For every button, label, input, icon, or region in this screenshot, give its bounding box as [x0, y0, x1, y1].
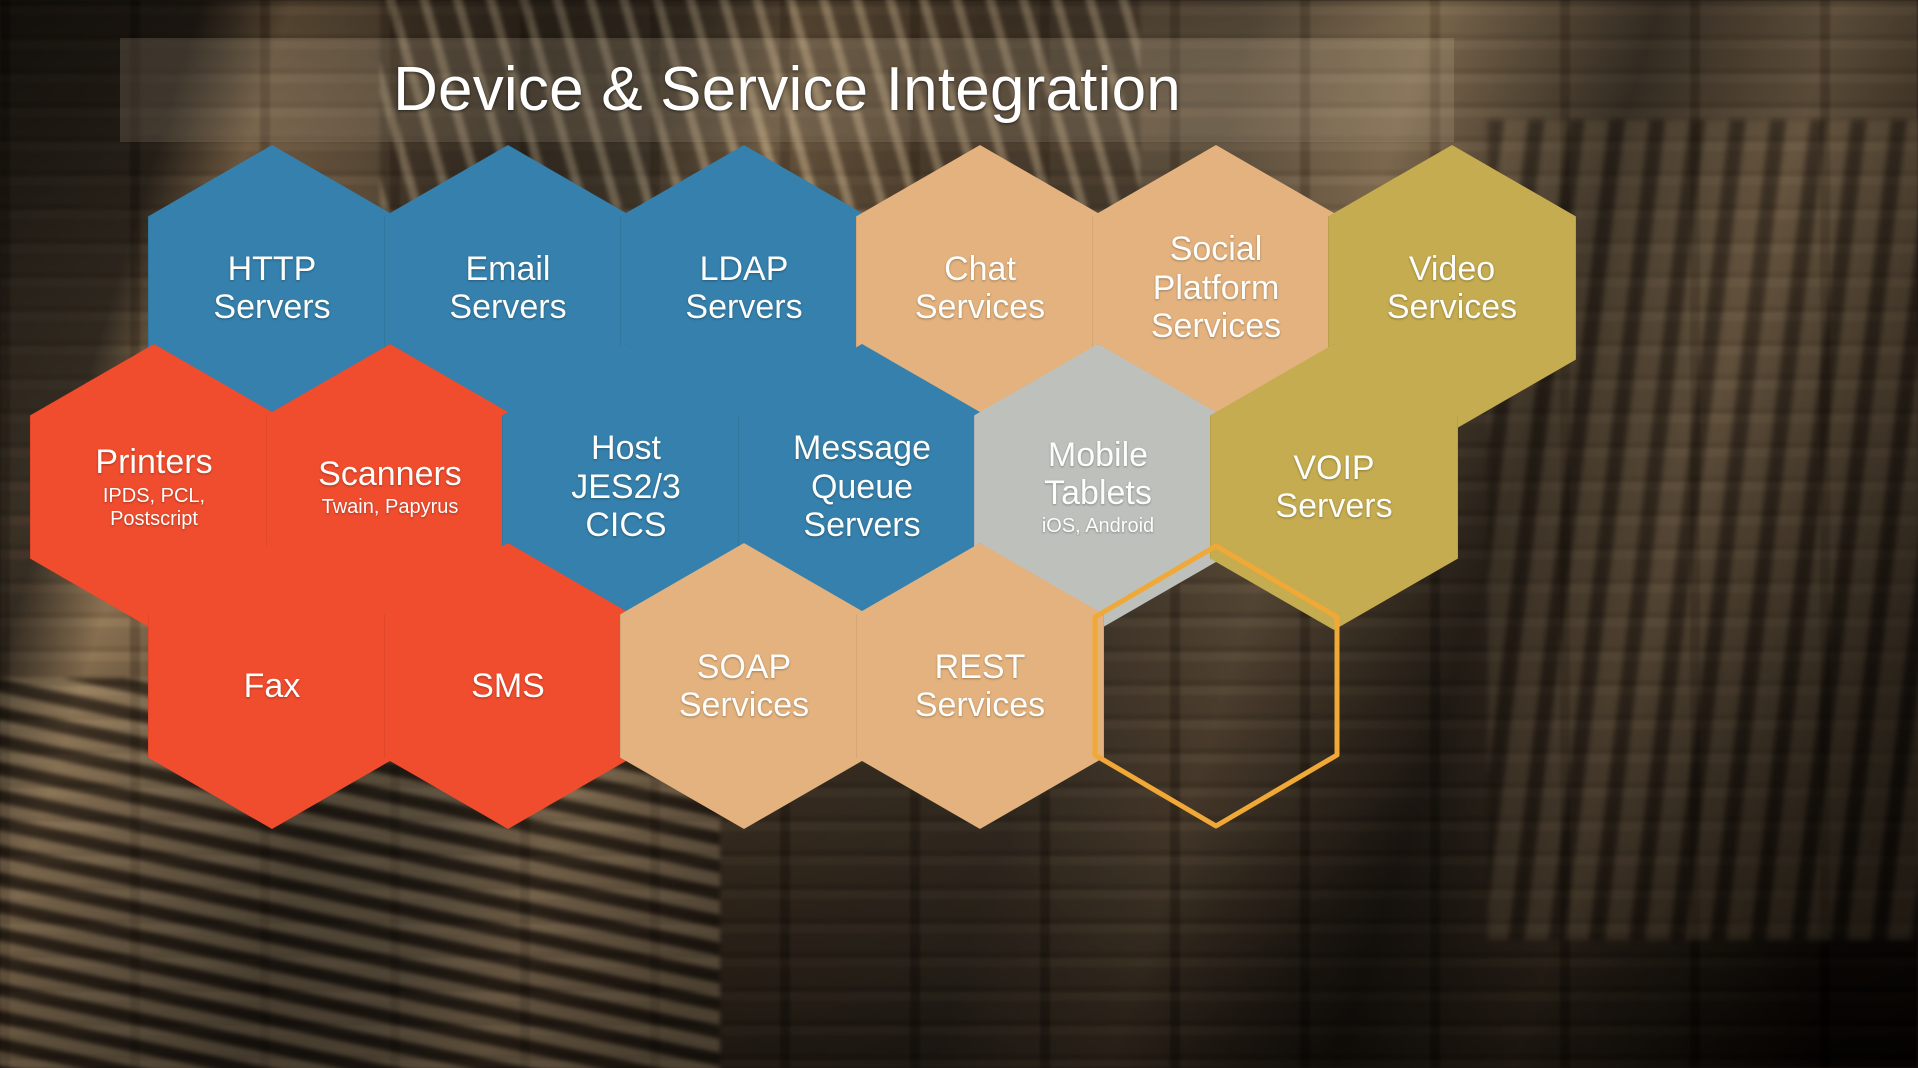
hex-label: LDAP Servers	[685, 250, 802, 327]
hex-outline-shape	[1092, 543, 1340, 829]
hex-sublabel: Twain, Papyrus	[322, 496, 459, 519]
hexagon-grid: HTTP ServersEmail ServersLDAP ServersCha…	[0, 0, 1918, 1068]
hex-label: Printers	[95, 443, 212, 481]
hex-label: Scanners	[318, 455, 462, 493]
hex-label: REST Services	[915, 648, 1045, 725]
hex-label: Video Services	[1387, 250, 1517, 327]
hex-label: Email Servers	[449, 250, 566, 327]
slide-canvas: Device & Service Integration HTTP Server…	[0, 0, 1918, 1068]
hex-label: Fax	[244, 667, 301, 705]
hex-sublabel: IPDS, PCL, Postscript	[103, 485, 205, 531]
hex-label: SOAP Services	[679, 648, 809, 725]
hex-label: Social Platform Services	[1151, 230, 1281, 345]
hex-label: Mobile Tablets	[1044, 436, 1152, 513]
hex-empty-placeholder[interactable]	[1092, 543, 1340, 829]
hex-label: SMS	[471, 667, 545, 705]
hex-label: Chat Services	[915, 250, 1045, 327]
hex-label: Message Queue Servers	[793, 429, 931, 544]
hex-label: HTTP Servers	[213, 250, 330, 327]
hex-label: Host JES2/3 CICS	[571, 429, 681, 544]
hex-label: VOIP Servers	[1275, 449, 1392, 526]
hex-sublabel: iOS, Android	[1042, 515, 1154, 538]
